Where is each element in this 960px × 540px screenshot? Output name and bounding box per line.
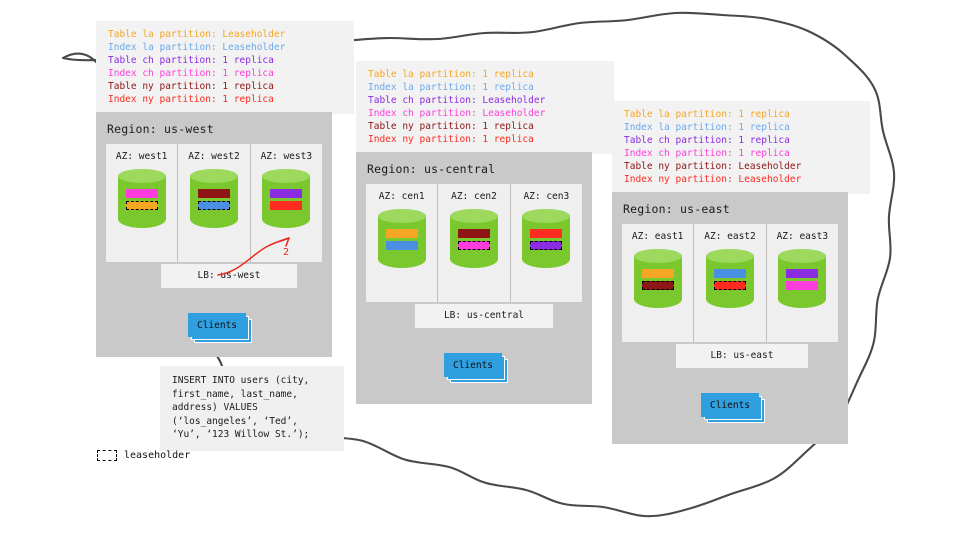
- replica-bar: [270, 201, 302, 210]
- replica-bars: [706, 269, 754, 290]
- database-cylinder-icon[interactable]: [118, 169, 166, 235]
- partition-row: Table la partition: 1 replica: [624, 108, 860, 121]
- replica-bar-leaseholder: [458, 241, 490, 250]
- annotation-label-2: 2: [283, 247, 289, 258]
- az-cell-cen2[interactable]: AZ: cen2: [438, 184, 510, 302]
- replica-bar: [386, 229, 418, 238]
- cylinder-top: [262, 169, 310, 183]
- cylinder-top: [190, 169, 238, 183]
- diagram-canvas: Table la partition: LeaseholderIndex la …: [0, 0, 960, 540]
- partition-row: Table ch partition: 1 replica: [624, 134, 860, 147]
- load-balancer-us-west[interactable]: LB: us-west: [161, 264, 297, 288]
- replica-bar: [642, 269, 674, 278]
- partition-row: Index la partition: Leaseholder: [108, 41, 344, 54]
- region-title-us-central: Region: us-central: [356, 152, 592, 184]
- az-label: AZ: east1: [622, 231, 693, 242]
- az-label: AZ: east3: [767, 231, 838, 242]
- az-label: AZ: cen1: [366, 191, 437, 202]
- partition-row: Table ny partition: Leaseholder: [624, 160, 860, 173]
- partition-row: Index la partition: 1 replica: [368, 81, 604, 94]
- az-container-us-west: AZ: west1AZ: west2AZ: west3: [106, 144, 322, 262]
- cylinder-top: [378, 209, 426, 223]
- az-label: AZ: west3: [251, 151, 322, 162]
- database-cylinder-icon[interactable]: [706, 249, 754, 315]
- replica-bar: [458, 229, 490, 238]
- partition-info-us-east: Table la partition: 1 replicaIndex la pa…: [612, 101, 870, 194]
- replica-bars: [450, 229, 498, 250]
- replica-bar-leaseholder: [198, 201, 230, 210]
- load-balancer-us-central[interactable]: LB: us-central: [415, 304, 553, 328]
- partition-row: Index ch partition: 1 replica: [624, 147, 860, 160]
- database-cylinder-icon[interactable]: [522, 209, 570, 275]
- clients-label-us-central: Clients: [444, 353, 502, 377]
- partition-row: Index ny partition: 1 replica: [368, 133, 604, 146]
- database-cylinder-icon[interactable]: [634, 249, 682, 315]
- az-cell-cen1[interactable]: AZ: cen1: [366, 184, 438, 302]
- replica-bar: [198, 189, 230, 198]
- partition-row: Table ch partition: 1 replica: [108, 54, 344, 67]
- clients-label-us-west: Clients: [188, 313, 246, 337]
- replica-bar-leaseholder: [714, 281, 746, 290]
- partition-info-us-central: Table la partition: 1 replicaIndex la pa…: [356, 61, 614, 154]
- az-cell-cen3[interactable]: AZ: cen3: [511, 184, 582, 302]
- replica-bar: [126, 189, 158, 198]
- sql-statement-block: INSERT INTO users (city, first_name, las…: [160, 366, 344, 451]
- replica-bars: [190, 189, 238, 210]
- az-cell-west1[interactable]: AZ: west1: [106, 144, 178, 262]
- region-title-us-east: Region: us-east: [612, 192, 848, 224]
- region-title-us-west: Region: us-west: [96, 112, 332, 144]
- partition-row: Index la partition: 1 replica: [624, 121, 860, 134]
- database-cylinder-icon[interactable]: [190, 169, 238, 235]
- cylinder-top: [706, 249, 754, 263]
- database-cylinder-icon[interactable]: [778, 249, 826, 315]
- database-cylinder-icon[interactable]: [262, 169, 310, 235]
- partition-row: Table ch partition: Leaseholder: [368, 94, 604, 107]
- clients-us-east[interactable]: Clients: [701, 393, 759, 417]
- partition-row: Table ny partition: 1 replica: [108, 80, 344, 93]
- replica-bars: [634, 269, 682, 290]
- partition-row: Table la partition: 1 replica: [368, 68, 604, 81]
- partition-row: Index ny partition: Leaseholder: [624, 173, 860, 186]
- az-cell-east3[interactable]: AZ: east3: [767, 224, 838, 342]
- replica-bar: [714, 269, 746, 278]
- az-cell-west2[interactable]: AZ: west2: [178, 144, 250, 262]
- az-cell-east2[interactable]: AZ: east2: [694, 224, 766, 342]
- replica-bars: [118, 189, 166, 210]
- replica-bar: [786, 281, 818, 290]
- replica-bar: [270, 189, 302, 198]
- az-label: AZ: west1: [106, 151, 177, 162]
- replica-bars: [262, 189, 310, 210]
- database-cylinder-icon[interactable]: [450, 209, 498, 275]
- az-cell-east1[interactable]: AZ: east1: [622, 224, 694, 342]
- replica-bar-leaseholder: [126, 201, 158, 210]
- az-cell-west3[interactable]: AZ: west3: [251, 144, 322, 262]
- legend-label: leaseholder: [124, 450, 190, 461]
- az-label: AZ: east2: [694, 231, 765, 242]
- az-label: AZ: cen2: [438, 191, 509, 202]
- replica-bars: [378, 229, 426, 250]
- partition-row: Index ny partition: 1 replica: [108, 93, 344, 106]
- az-container-us-east: AZ: east1AZ: east2AZ: east3: [622, 224, 838, 342]
- replica-bars: [522, 229, 570, 250]
- az-label: AZ: cen3: [511, 191, 582, 202]
- replica-bars: [778, 269, 826, 290]
- clients-us-central[interactable]: Clients: [444, 353, 502, 377]
- cylinder-top: [634, 249, 682, 263]
- az-label: AZ: west2: [178, 151, 249, 162]
- cylinder-top: [522, 209, 570, 223]
- az-container-us-central: AZ: cen1AZ: cen2AZ: cen3: [366, 184, 582, 302]
- cylinder-top: [450, 209, 498, 223]
- database-cylinder-icon[interactable]: [378, 209, 426, 275]
- clients-label-us-east: Clients: [701, 393, 759, 417]
- cylinder-top: [778, 249, 826, 263]
- replica-bar: [386, 241, 418, 250]
- cylinder-top: [118, 169, 166, 183]
- replica-bar: [530, 229, 562, 238]
- partition-row: Table ny partition: 1 replica: [368, 120, 604, 133]
- partition-row: Table la partition: Leaseholder: [108, 28, 344, 41]
- replica-bar-leaseholder: [642, 281, 674, 290]
- partition-row: Index ch partition: Leaseholder: [368, 107, 604, 120]
- partition-info-us-west: Table la partition: LeaseholderIndex la …: [96, 21, 354, 114]
- partition-row: Index ch partition: 1 replica: [108, 67, 344, 80]
- clients-us-west[interactable]: Clients: [188, 313, 246, 337]
- dashed-rect-icon: [97, 450, 117, 461]
- load-balancer-us-east[interactable]: LB: us-east: [676, 344, 808, 368]
- replica-bar-leaseholder: [530, 241, 562, 250]
- legend-leaseholder: leaseholder: [97, 450, 190, 461]
- replica-bar: [786, 269, 818, 278]
